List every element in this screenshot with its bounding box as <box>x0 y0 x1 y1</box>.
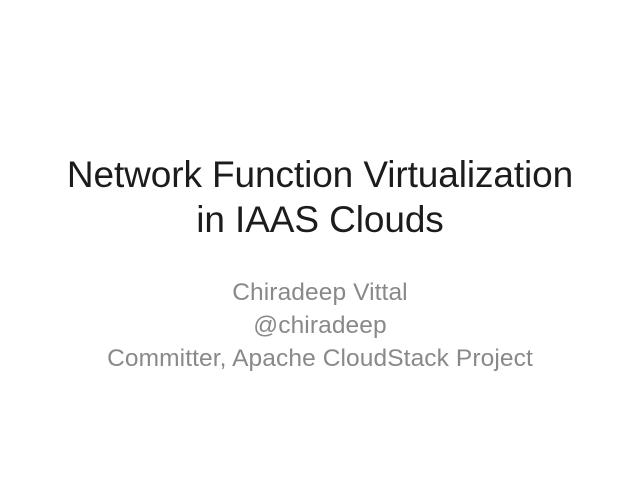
slide-subtitle: Chiradeep Vittal @chiradeep Committer, A… <box>0 276 640 375</box>
title-slide: Network Function Virtualization in IAAS … <box>0 0 640 480</box>
slide-title: Network Function Virtualization in IAAS … <box>0 152 640 242</box>
title-line-1: Network Function Virtualization <box>0 152 640 197</box>
subtitle-author-name: Chiradeep Vittal <box>0 276 640 309</box>
subtitle-social-handle: @chiradeep <box>0 309 640 342</box>
title-line-2: in IAAS Clouds <box>0 197 640 242</box>
subtitle-affiliation: Committer, Apache CloudStack Project <box>0 342 640 375</box>
